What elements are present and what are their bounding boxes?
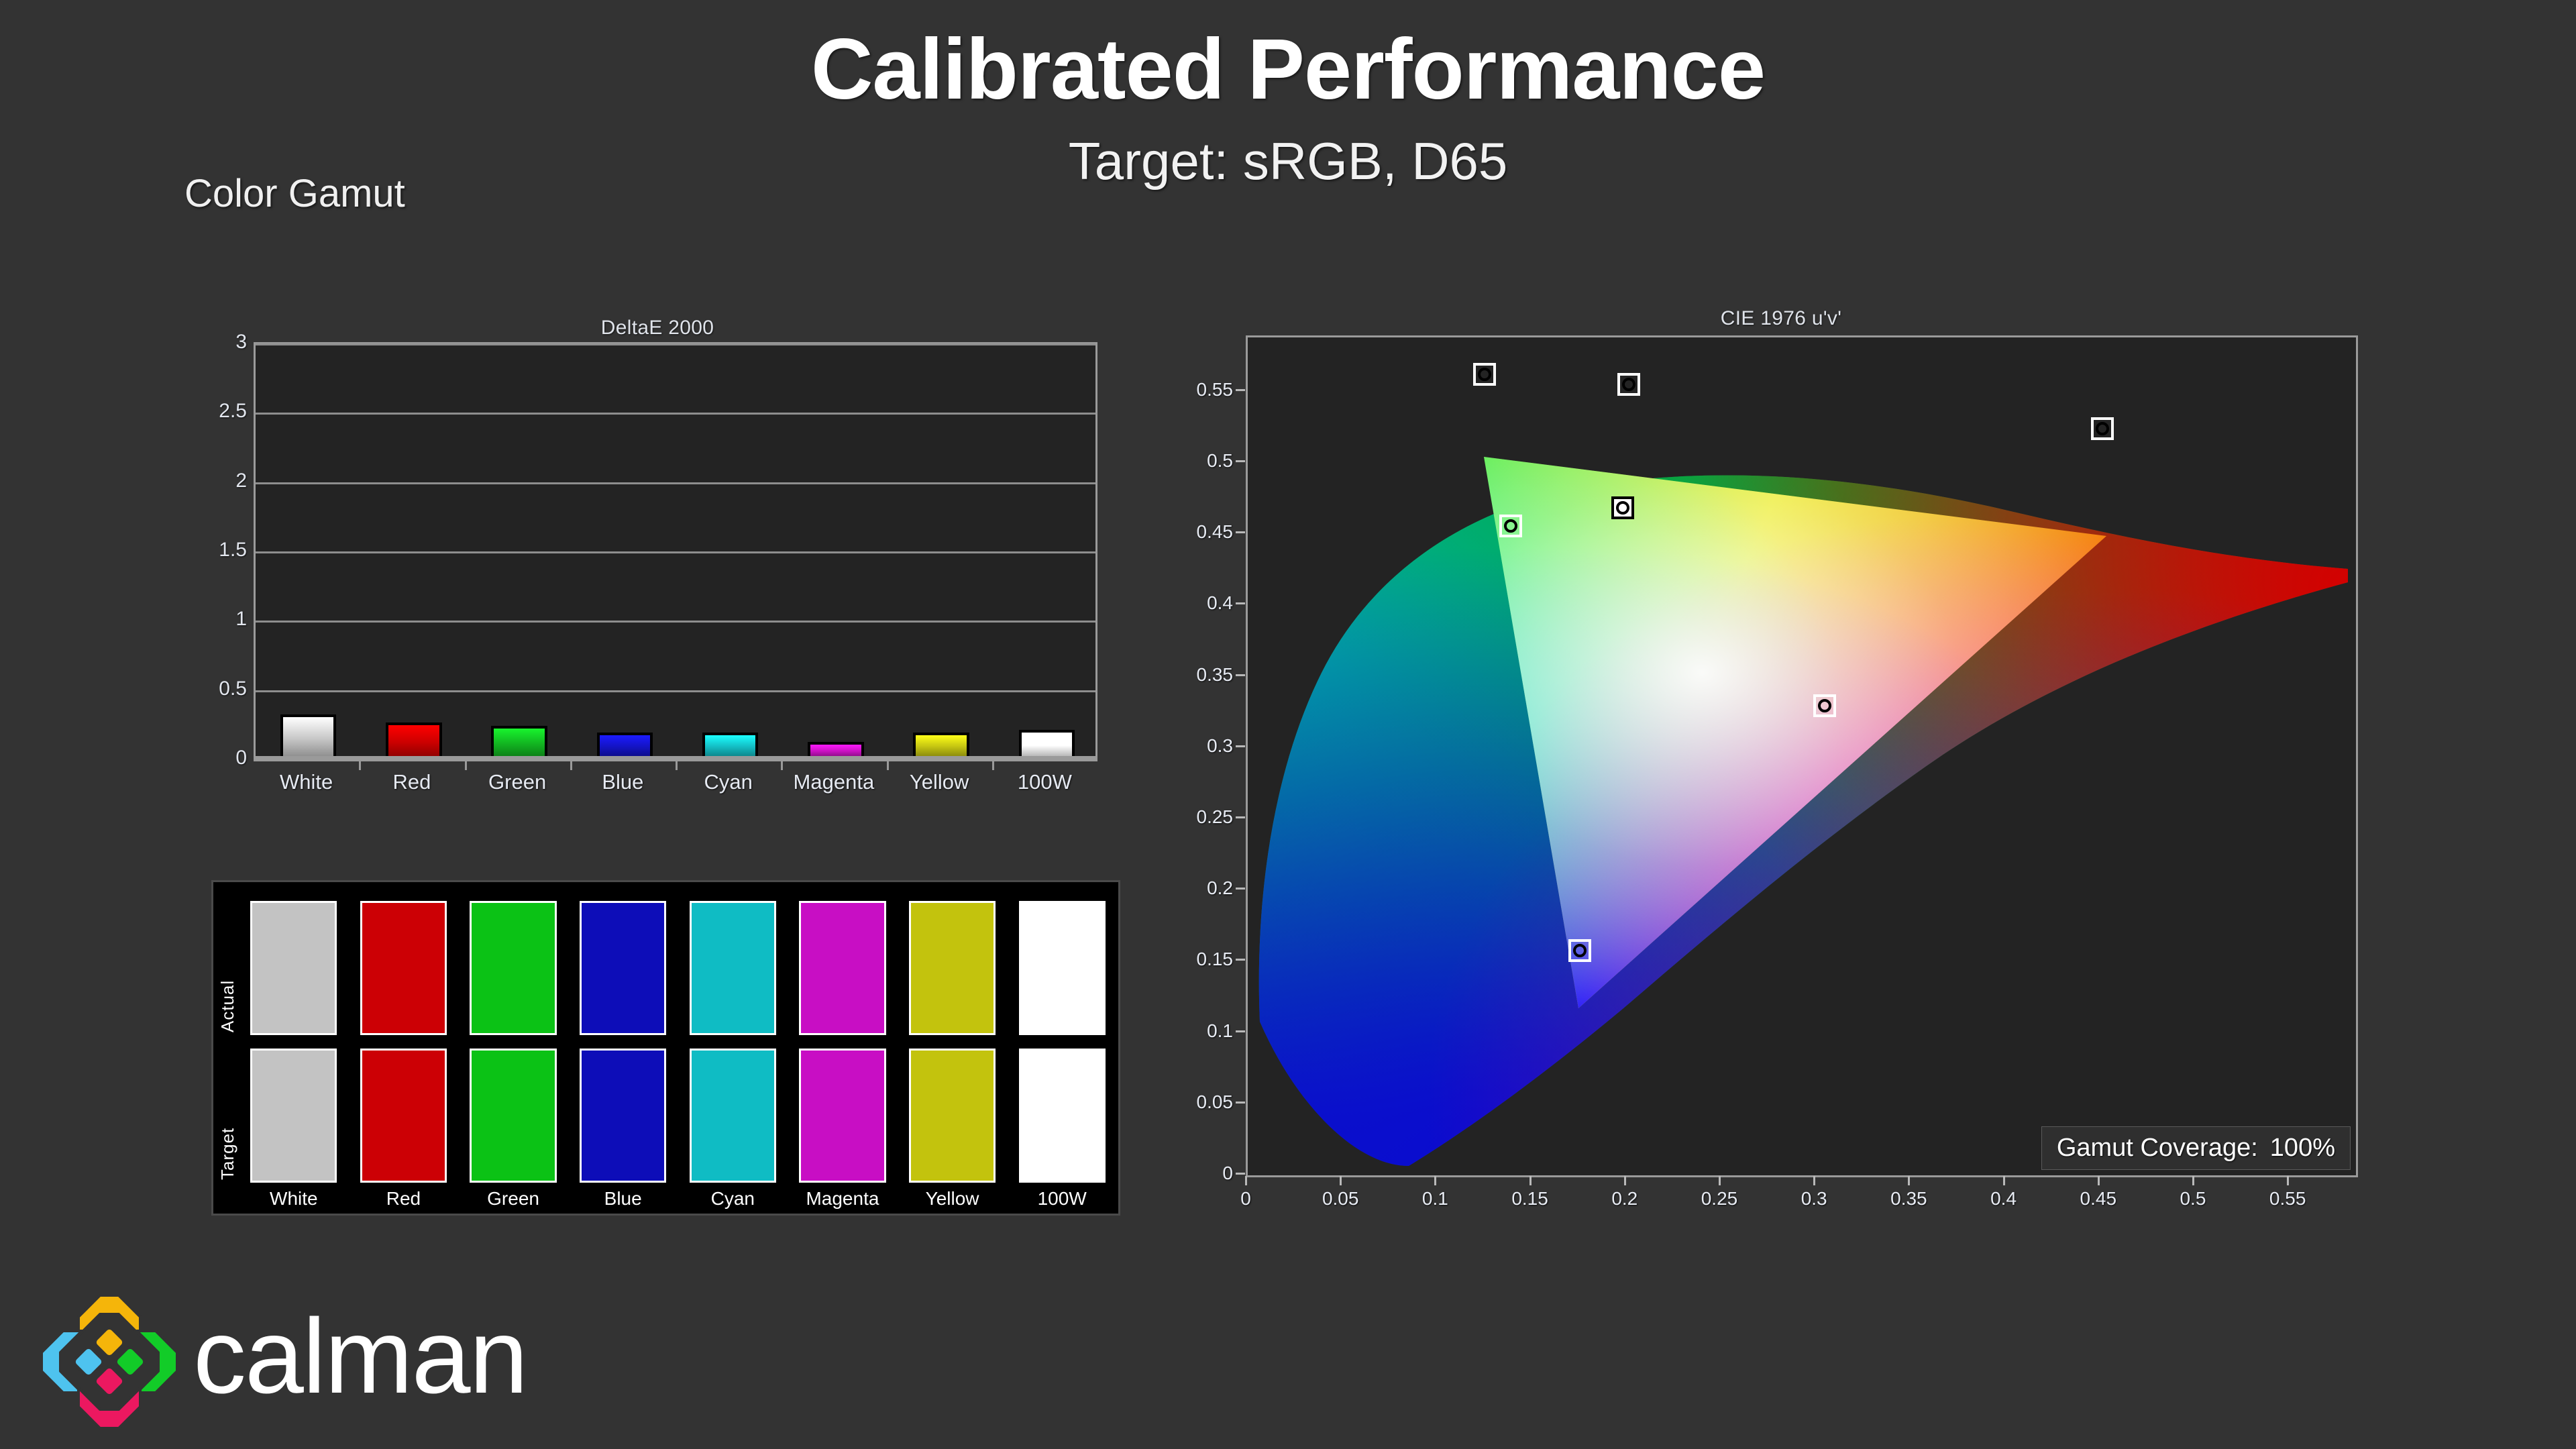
cie-measured-circle	[1573, 944, 1587, 957]
swatch-column-caption: White	[270, 1188, 318, 1210]
deltae-bar	[386, 722, 441, 756]
cie-plot-area: Gamut Coverage:100%	[1246, 335, 2358, 1177]
cie-y-tick-label: 0.25	[1181, 806, 1233, 828]
cie-x-tick-label: 0.55	[2269, 1188, 2306, 1210]
deltae-bar	[1019, 730, 1075, 756]
deltae-bars	[256, 344, 1095, 756]
cie-y-tick-mark	[1236, 674, 1245, 676]
deltae-bar-fill	[388, 725, 439, 756]
cie-measured-circle	[1622, 378, 1635, 391]
deltae-bar	[702, 733, 758, 756]
cie-y-tick-mark	[1236, 888, 1245, 890]
cie-x-tick-label: 0	[1240, 1188, 1251, 1210]
cie-x-tick-mark	[1719, 1176, 1721, 1185]
cie-measured-circle	[1616, 501, 1629, 515]
deltae-category-label: 100W	[1018, 770, 1072, 794]
swatch-actual-green	[470, 901, 556, 1035]
deltae-bar	[280, 714, 336, 756]
cie-x-tick-label: 0.25	[1701, 1188, 1738, 1210]
cie-x-tick-label: 0.2	[1611, 1188, 1638, 1210]
cie-y-tick-mark	[1236, 389, 1245, 391]
swatch-row-target	[239, 1049, 1113, 1183]
deltae-bar-fill	[705, 735, 755, 756]
deltae-x-axis: WhiteRedGreenBlueCyanMagentaYellow100W	[254, 758, 1097, 796]
cie-y-tick-mark	[1236, 460, 1245, 462]
cie-x-tick-label: 0.3	[1801, 1188, 1827, 1210]
cie-x-tick-mark	[2192, 1176, 2194, 1185]
cie-y-tick-mark	[1236, 745, 1245, 747]
swatch-row-label-target: Target	[217, 1053, 238, 1180]
cie-x-tick-mark	[2003, 1176, 2005, 1185]
cie-marker-cyan	[1499, 515, 1522, 537]
cie-x-tick-label: 0.4	[1990, 1188, 2017, 1210]
calman-logo: calman	[39, 1285, 683, 1439]
cie-measured-circle	[1504, 519, 1517, 533]
swatch-actual-100w	[1019, 901, 1106, 1035]
swatch-column-caption: Magenta	[806, 1188, 879, 1210]
cie-marker-magenta	[1813, 694, 1836, 717]
swatch-target-cyan	[690, 1049, 776, 1183]
cie-marker-blue	[1568, 939, 1591, 962]
cie-chromaticity-diagram	[1248, 337, 2356, 1175]
cie-x-tick-mark	[1813, 1176, 1815, 1185]
cie-x-tick-mark	[1908, 1176, 1910, 1185]
deltae-x-tick	[359, 761, 361, 770]
swatch-row-label-actual: Actual	[217, 905, 238, 1032]
deltae-x-tick	[465, 761, 467, 770]
deltae-category-label: Green	[488, 770, 546, 794]
deltae-category-label: Magenta	[794, 770, 875, 794]
cie-x-tick-label: 0.1	[1422, 1188, 1448, 1210]
deltae-y-tick-label: 3	[235, 331, 247, 354]
deltae-category-label: Blue	[602, 770, 643, 794]
deltae-bar	[808, 742, 863, 756]
calman-logo-mark-icon	[39, 1285, 180, 1439]
swatch-target-yellow	[909, 1049, 996, 1183]
cie-y-tick-mark	[1236, 1030, 1245, 1032]
cie-y-tick-label: 0.15	[1181, 949, 1233, 970]
gamut-coverage-value: 100%	[2270, 1134, 2335, 1162]
deltae-y-tick-label: 1.5	[219, 539, 247, 561]
deltae-y-tick-label: 0.5	[219, 678, 247, 700]
deltae-bar-fill	[916, 735, 966, 756]
cie-y-tick-mark	[1236, 959, 1245, 961]
page-title: Calibrated Performance	[0, 20, 2576, 119]
deltae-x-tick	[887, 761, 889, 770]
swatch-target-magenta	[799, 1049, 885, 1183]
cie-x-tick-label: 0.45	[2080, 1188, 2117, 1210]
deltae-x-tick	[992, 761, 994, 770]
deltae-x-tick	[570, 761, 572, 770]
swatch-target-blue	[580, 1049, 666, 1183]
cie-x-tick-label: 0.05	[1322, 1188, 1359, 1210]
swatch-actual-magenta	[799, 901, 885, 1035]
cie-x-tick-label: 0.15	[1511, 1188, 1548, 1210]
section-label-color-gamut: Color Gamut	[184, 171, 405, 216]
deltae-y-axis: 00.511.522.53	[215, 342, 247, 758]
deltae-category-label: Red	[392, 770, 431, 794]
deltae-y-tick-label: 1	[235, 608, 247, 631]
cie-y-tick-label: 0.3	[1181, 735, 1233, 757]
gamut-coverage-label: Gamut Coverage	[2057, 1134, 2251, 1162]
cie-x-tick-mark	[1434, 1176, 1436, 1185]
swatch-row-actual	[239, 901, 1113, 1035]
deltae-bar-fill	[600, 735, 650, 756]
swatch-actual-red	[360, 901, 447, 1035]
swatch-column-caption: Blue	[604, 1188, 642, 1210]
cie-x-tick-mark	[1340, 1176, 1342, 1185]
swatch-column-caption: Cyan	[711, 1188, 755, 1210]
cie-y-tick-label: 0.45	[1181, 521, 1233, 543]
gamut-coverage-badge: Gamut Coverage:100%	[2041, 1126, 2351, 1170]
cie-measured-circle	[2096, 422, 2109, 435]
cie-marker-red	[2091, 417, 2114, 440]
swatch-target-red	[360, 1049, 447, 1183]
cie-x-tick-label: 0.35	[1890, 1188, 1927, 1210]
swatch-target-white	[250, 1049, 337, 1183]
deltae-y-tick-label: 2.5	[219, 400, 247, 423]
cie-y-tick-label: 0.4	[1181, 592, 1233, 614]
deltae-bar	[597, 733, 653, 756]
deltae-bar-fill	[494, 729, 544, 756]
swatch-actual-cyan	[690, 901, 776, 1035]
cie-y-tick-mark	[1236, 1102, 1245, 1104]
swatch-target-green	[470, 1049, 556, 1183]
cie-x-tick-mark	[1624, 1176, 1626, 1185]
cie-y-tick-label: 0.05	[1181, 1091, 1233, 1113]
cie-y-tick-label: 0.5	[1181, 450, 1233, 472]
deltae-x-tick	[676, 761, 678, 770]
cie-y-tick-label: 0.35	[1181, 664, 1233, 686]
cie-x-tick-mark	[2287, 1176, 2289, 1185]
deltae-y-tick-label: 2	[235, 470, 247, 492]
deltae-bar-fill	[283, 717, 333, 756]
swatch-actual-white	[250, 901, 337, 1035]
cie-y-tick-mark	[1236, 531, 1245, 533]
cie-x-tick-mark	[1529, 1176, 1532, 1185]
cie-measured-circle	[1478, 368, 1491, 381]
cie-measured-circle	[1818, 699, 1831, 712]
cie-y-tick-mark	[1236, 1173, 1245, 1175]
deltae-x-tick	[781, 761, 783, 770]
deltae-bar-fill	[1022, 733, 1072, 756]
deltae-bar-fill	[810, 745, 861, 756]
deltae-chart: 00.511.522.53 WhiteRedGreenBlueCyanMagen…	[215, 315, 1114, 798]
cie-locus-svg	[1248, 337, 2356, 1175]
deltae-category-label: Yellow	[910, 770, 969, 794]
deltae-bar	[491, 726, 547, 756]
swatch-column-caption: Green	[487, 1188, 539, 1210]
cie-y-tick-label: 0.1	[1181, 1020, 1233, 1042]
swatch-actual-yellow	[909, 901, 996, 1035]
cie-x-tick-label: 0.5	[2180, 1188, 2206, 1210]
deltae-category-label: White	[280, 770, 333, 794]
cie-y-tick-label: 0	[1181, 1163, 1233, 1184]
cie-marker-white	[1611, 496, 1634, 519]
report-page: Calibrated Performance Target: sRGB, D65…	[0, 0, 2576, 1449]
deltae-category-label: Cyan	[704, 770, 752, 794]
cie-x-tick-mark	[2098, 1176, 2100, 1185]
swatch-target-100w	[1019, 1049, 1106, 1183]
swatch-column-caption: Yellow	[926, 1188, 979, 1210]
swatch-column-caption: Red	[386, 1188, 421, 1210]
cie-y-tick-label: 0.2	[1181, 877, 1233, 899]
deltae-plot-area	[254, 342, 1097, 758]
cie-marker-green	[1473, 363, 1496, 386]
deltae-bar	[913, 733, 969, 756]
cie-marker-yellow	[1617, 373, 1640, 396]
cie-x-tick-mark	[1245, 1176, 1247, 1185]
cie-y-tick-mark	[1236, 602, 1245, 604]
cie-chart: 00.050.10.150.20.250.30.350.40.450.50.55	[1181, 305, 2381, 1204]
deltae-y-tick-label: 0	[235, 747, 247, 769]
calman-wordmark: calman	[193, 1303, 527, 1409]
cie-y-tick-label: 0.55	[1181, 379, 1233, 400]
swatch-comparison-panel: Actual Target WhiteRedGreenBlueCyanMagen…	[211, 880, 1120, 1216]
swatch-column-caption: 100W	[1038, 1188, 1087, 1210]
swatch-actual-blue	[580, 901, 666, 1035]
cie-y-tick-mark	[1236, 816, 1245, 818]
